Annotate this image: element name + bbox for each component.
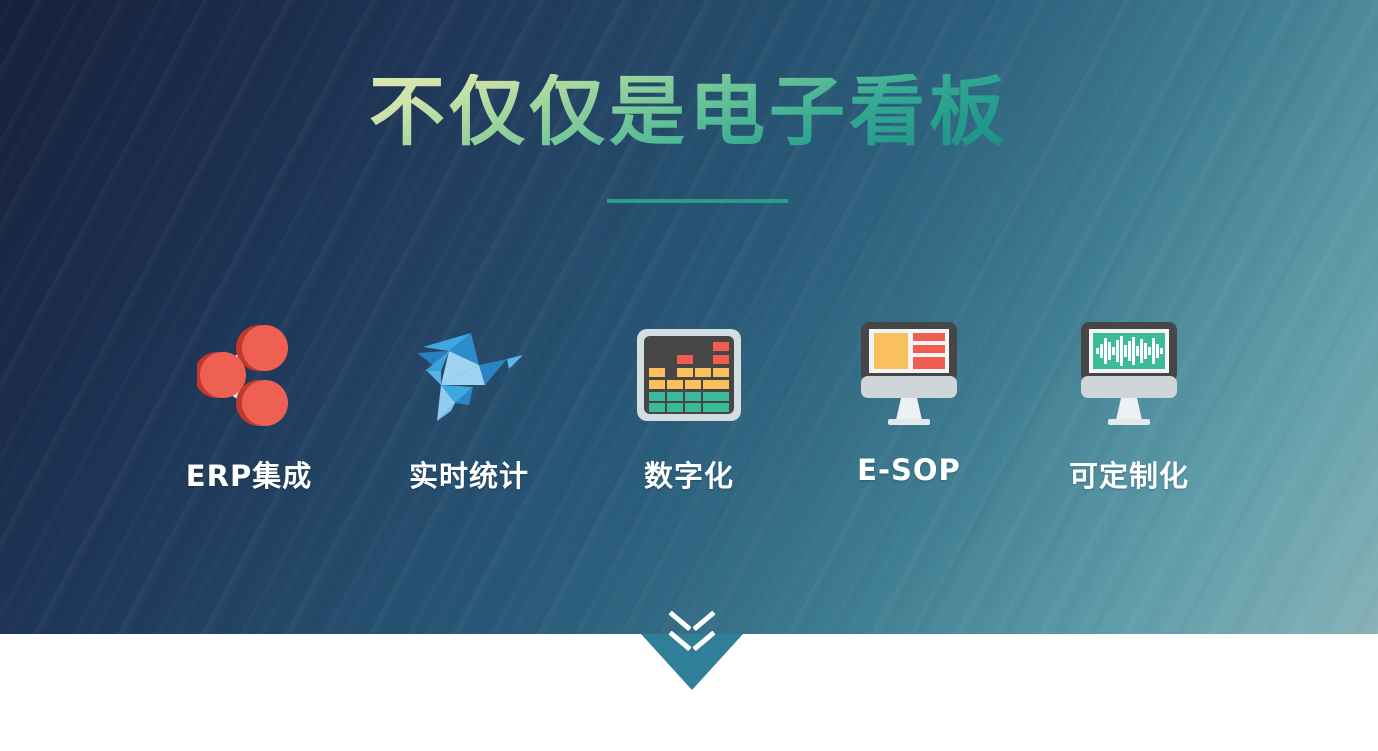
feature-list: ERP集成 [0, 315, 1378, 495]
led-board-icon [637, 315, 741, 435]
feature-item-erp[interactable]: ERP集成 [139, 315, 359, 495]
page-root: 不仅仅是电子看板 [0, 0, 1378, 751]
feature-label: 实时统计 [409, 453, 529, 495]
monitor-layout-icon [857, 315, 961, 435]
hero-banner: 不仅仅是电子看板 [0, 0, 1378, 634]
feature-item-customizable[interactable]: 可定制化 [1019, 315, 1239, 495]
share-network-icon [197, 315, 301, 435]
origami-bird-icon [411, 315, 527, 435]
title-divider [607, 199, 788, 203]
page-title: 不仅仅是电子看板 [369, 74, 1009, 150]
scroll-down-pennant[interactable] [641, 634, 743, 690]
feature-item-realtime-stats[interactable]: 实时统计 [359, 315, 579, 495]
monitor-waveform-icon [1077, 315, 1181, 435]
feature-label: ERP集成 [186, 453, 312, 495]
feature-label: E-SOP [857, 453, 961, 487]
feature-label: 数字化 [644, 453, 734, 495]
feature-item-digitalization[interactable]: 数字化 [579, 315, 799, 495]
feature-item-esop[interactable]: E-SOP [799, 315, 1019, 487]
hero-title-wrapper: 不仅仅是电子看板 [0, 74, 1378, 150]
feature-label: 可定制化 [1069, 453, 1189, 495]
